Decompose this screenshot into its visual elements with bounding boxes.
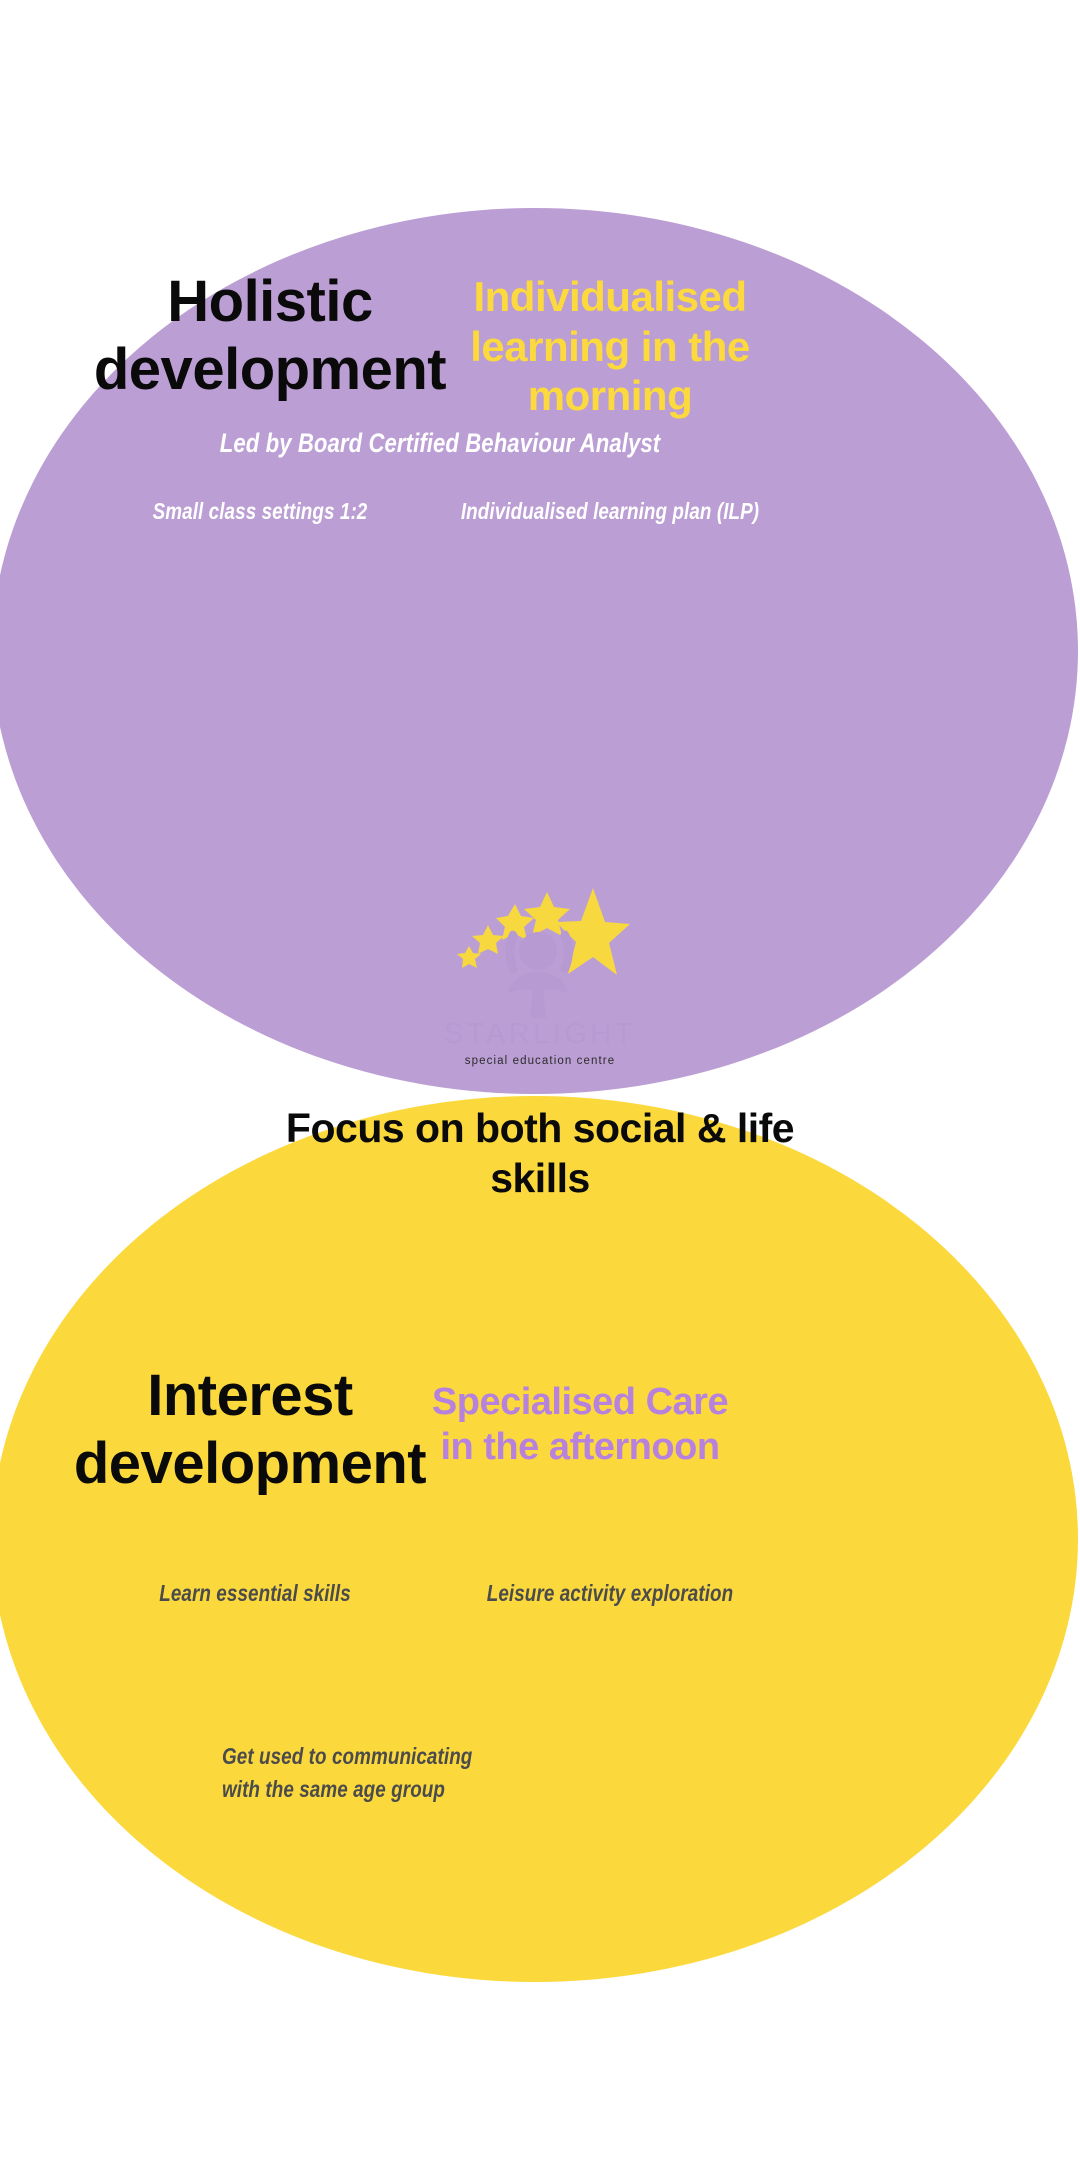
logo-wordmark: STARLIGHT [440,1020,640,1049]
communicating-caption-line-1: Get used to communicating [222,1740,550,1773]
morning-learning-heading: Individualised learning in the morning [430,272,790,421]
holistic-development-heading: Holistic development [60,268,480,405]
morning-learning-heading-line-3: morning [430,371,790,421]
morning-learning-heading-line-1: Individualised [430,272,790,322]
communicating-caption-line-2: with the same age group [222,1773,550,1806]
focus-skills-heading-line-1: Focus on both social & life [190,1103,890,1153]
bcba-caption: Led by Board Certified Behaviour Analyst [153,428,727,460]
holistic-development-heading-line-2: development [60,336,480,404]
logo-tagline: special education centre [440,1056,640,1068]
class-size-caption: Small class settings 1:2 [80,498,441,525]
essential-skills-caption: Learn essential skills [75,1580,436,1607]
ilp-caption: Individualised learning plan (ILP) [405,498,815,525]
communicating-caption: Get used to communicating with the same … [222,1740,550,1805]
morning-learning-heading-line-2: learning in the [430,322,790,372]
focus-skills-heading: Focus on both social & life skills [190,1103,890,1203]
yellow-circle-shape [0,1096,1078,1982]
holistic-development-heading-line-1: Holistic [60,268,480,336]
starlight-logo: STARLIGHT special education centre [440,880,640,1080]
infographic-canvas: Holistic development Individualised lear… [0,0,1080,2160]
afternoon-care-heading-line-1: Specialised Care [400,1380,760,1425]
child-reaching-for-stars-icon [450,880,630,1018]
afternoon-care-heading-line-2: in the afternoon [400,1425,760,1470]
focus-skills-heading-line-2: skills [190,1153,890,1203]
leisure-activity-caption: Leisure activity exploration [405,1580,815,1607]
interest-development-heading: Interest development [45,1362,455,1499]
interest-development-heading-line-1: Interest [45,1362,455,1430]
afternoon-care-heading: Specialised Care in the afternoon [400,1380,760,1470]
interest-development-heading-line-2: development [45,1430,455,1498]
